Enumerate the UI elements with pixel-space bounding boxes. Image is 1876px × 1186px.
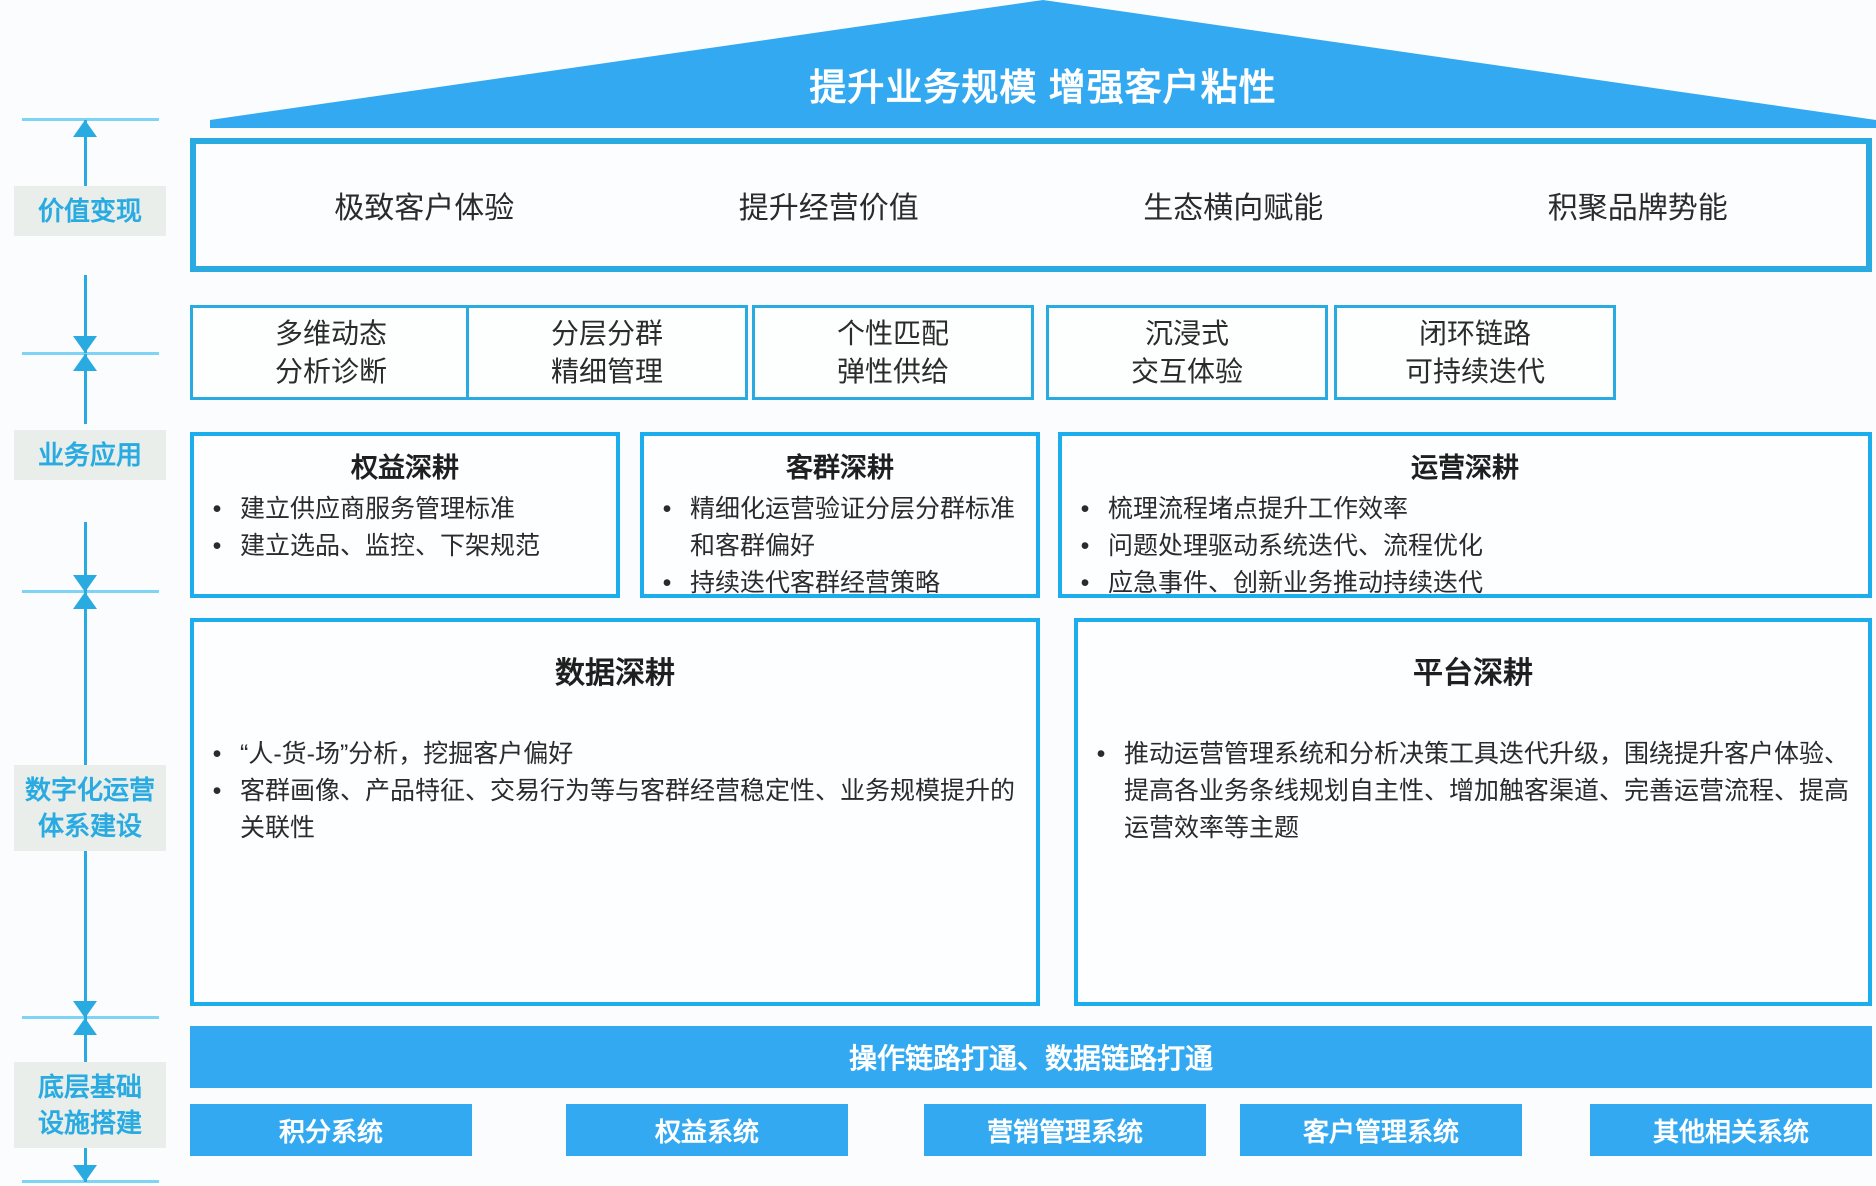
biz-box-line-2: 弹性供给 <box>837 353 949 391</box>
rail-label-infrastructure: 底层基础 设施搭建 <box>14 1062 166 1148</box>
bullet-icon: • <box>644 491 690 528</box>
system-box-label: 其他相关系统 <box>1653 1112 1809 1149</box>
biz-box-line-1: 闭环链路 <box>1419 315 1531 353</box>
left-rail: 价值变现 业务应用 数字化运营 体系建设 底层基础 设施搭建 <box>0 110 180 1186</box>
system-box-other[interactable]: 其他相关系统 <box>1590 1104 1872 1156</box>
deep-box-platform[interactable]: 平台深耕 • 推动运营管理系统和分析决策工具迭代升级，围绕提升客户体验、提高各业… <box>1074 618 1872 1006</box>
rail-label-line-1: 数字化运营 <box>14 772 166 808</box>
rail-label-line: 业务应用 <box>14 437 166 473</box>
biz-box-line-1: 分层分群 <box>551 315 663 353</box>
list-item: • 梳理流程堵点提升工作效率 <box>1062 491 1868 528</box>
list-item: • 客群画像、产品特征、交易行为等与客群经营稳定性、业务规模提升的关联性 <box>194 773 1036 847</box>
list-item-text: 推动运营管理系统和分析决策工具迭代升级，围绕提升客户体验、提高各业务条线规划自主… <box>1124 736 1868 847</box>
rail-arrow-down-0 <box>84 275 87 353</box>
list-item: • 推动运营管理系统和分析决策工具迭代升级，围绕提升客户体验、提高各业务条线规划… <box>1078 736 1868 847</box>
bullet-icon: • <box>1062 491 1108 528</box>
deep-box-title: 权益深耕 <box>194 446 616 485</box>
deep-box-rights[interactable]: 权益深耕 • 建立供应商服务管理标准 • 建立选品、监控、下架规范 <box>190 432 620 598</box>
list-item-text: 客群画像、产品特征、交易行为等与客群经营稳定性、业务规模提升的关联性 <box>240 773 1036 847</box>
deep-box-title: 客群深耕 <box>644 446 1036 485</box>
system-box-label: 营销管理系统 <box>987 1112 1143 1149</box>
deep-box-bullet-list: • 精细化运营验证分层分群标准和客群偏好 • 持续迭代客群经营策略 <box>644 491 1036 602</box>
system-box-label: 权益系统 <box>655 1112 759 1149</box>
deep-box-title: 数据深耕 <box>194 648 1036 692</box>
deep-box-title: 平台深耕 <box>1078 648 1868 692</box>
list-item-text: 问题处理驱动系统迭代、流程优化 <box>1108 528 1868 565</box>
list-item: • 建立供应商服务管理标准 <box>194 491 616 528</box>
rail-label-line-2: 设施搭建 <box>14 1105 166 1141</box>
list-item-text: 精细化运营验证分层分群标准和客群偏好 <box>690 491 1036 565</box>
deep-box-bullet-list: • 推动运营管理系统和分析决策工具迭代升级，围绕提升客户体验、提高各业务条线规划… <box>1078 736 1868 847</box>
link-through-label: 操作链路打通、数据链路打通 <box>849 1037 1213 1077</box>
rail-label-value-realization: 价值变现 <box>14 186 166 236</box>
value-item-business-value: 提升经营价值 <box>627 183 1032 227</box>
bullet-icon: • <box>1062 528 1108 565</box>
biz-box-multidimensional-analysis[interactable]: 多维动态 分析诊断 <box>190 305 472 400</box>
list-item: • 建立选品、监控、下架规范 <box>194 528 616 565</box>
diagram-canvas: 提升业务规模 增强客户粘性 价值变现 业务应用 数字化运营 体系建设 底层基础 <box>0 0 1876 1186</box>
rail-arrow-down-1 <box>84 522 87 592</box>
list-item-text: “人-货-场”分析，挖掘客户偏好 <box>240 736 1036 773</box>
rail-label-digital-operations: 数字化运营 体系建设 <box>14 765 166 851</box>
list-item-text: 建立选品、监控、下架规范 <box>240 528 616 565</box>
bullet-icon: • <box>644 565 690 602</box>
biz-box-line-1: 多维动态 <box>275 315 387 353</box>
bullet-icon: • <box>194 528 240 565</box>
deep-box-bullet-list: • “人-货-场”分析，挖掘客户偏好 • 客群画像、产品特征、交易行为等与客群经… <box>194 736 1036 847</box>
deep-box-bullet-list: • 梳理流程堵点提升工作效率 • 问题处理驱动系统迭代、流程优化 • 应急事件、… <box>1062 491 1868 602</box>
bullet-icon: • <box>194 491 240 528</box>
biz-box-immersive-interaction[interactable]: 沉浸式 交互体验 <box>1046 305 1328 400</box>
link-through-bar: 操作链路打通、数据链路打通 <box>190 1026 1872 1088</box>
value-item-customer-experience: 极致客户体验 <box>222 183 627 227</box>
bullet-icon: • <box>1078 736 1124 773</box>
bullet-icon: • <box>1062 565 1108 602</box>
biz-box-line-2: 分析诊断 <box>275 353 387 391</box>
list-item: • “人-货-场”分析，挖掘客户偏好 <box>194 736 1036 773</box>
biz-box-line-1: 个性匹配 <box>837 315 949 353</box>
system-box-label: 客户管理系统 <box>1303 1112 1459 1149</box>
rail-label-line-1: 底层基础 <box>14 1069 166 1105</box>
system-box-marketing[interactable]: 营销管理系统 <box>924 1104 1206 1156</box>
rail-label-line-2: 体系建设 <box>14 808 166 844</box>
system-box-customer[interactable]: 客户管理系统 <box>1240 1104 1522 1156</box>
bullet-icon: • <box>194 773 240 810</box>
biz-box-segmentation-management[interactable]: 分层分群 精细管理 <box>466 305 748 400</box>
deep-box-title: 运营深耕 <box>1062 446 1868 485</box>
roof-shape: 提升业务规模 增强客户粘性 <box>210 0 1876 128</box>
deep-box-customer-group[interactable]: 客群深耕 • 精细化运营验证分层分群标准和客群偏好 • 持续迭代客群经营策略 <box>640 432 1040 598</box>
biz-box-line-1: 沉浸式 <box>1145 315 1229 353</box>
list-item: • 精细化运营验证分层分群标准和客群偏好 <box>644 491 1036 565</box>
biz-box-personalized-matching[interactable]: 个性匹配 弹性供给 <box>752 305 1034 400</box>
list-item-text: 梳理流程堵点提升工作效率 <box>1108 491 1868 528</box>
deep-box-bullet-list: • 建立供应商服务管理标准 • 建立选品、监控、下架规范 <box>194 491 616 565</box>
list-item-text: 应急事件、创新业务推动持续迭代 <box>1108 565 1868 602</box>
list-item: • 持续迭代客群经营策略 <box>644 565 1036 602</box>
list-item-text: 持续迭代客群经营策略 <box>690 565 1036 602</box>
deep-box-operations[interactable]: 运营深耕 • 梳理流程堵点提升工作效率 • 问题处理驱动系统迭代、流程优化 • … <box>1058 432 1872 598</box>
list-item: • 问题处理驱动系统迭代、流程优化 <box>1062 528 1868 565</box>
list-item: • 应急事件、创新业务推动持续迭代 <box>1062 565 1868 602</box>
biz-box-closed-loop-iteration[interactable]: 闭环链路 可持续迭代 <box>1334 305 1616 400</box>
system-box-label: 积分系统 <box>279 1112 383 1149</box>
value-item-brand-momentum: 积聚品牌势能 <box>1436 183 1841 227</box>
biz-box-line-2: 交互体验 <box>1131 353 1243 391</box>
bullet-icon: • <box>194 736 240 773</box>
value-item-ecosystem-enablement: 生态横向赋能 <box>1031 183 1436 227</box>
biz-box-line-2: 精细管理 <box>551 353 663 391</box>
value-realization-panel: 极致客户体验 提升经营价值 生态横向赋能 积聚品牌势能 <box>190 138 1872 272</box>
roof-title: 提升业务规模 增强客户粘性 <box>210 0 1876 128</box>
rail-label-business-application: 业务应用 <box>14 430 166 480</box>
rail-arrow-up-1 <box>84 354 87 424</box>
deep-box-data[interactable]: 数据深耕 • “人-货-场”分析，挖掘客户偏好 • 客群画像、产品特征、交易行为… <box>190 618 1040 1006</box>
list-item-text: 建立供应商服务管理标准 <box>240 491 616 528</box>
rail-label-line: 价值变现 <box>14 193 166 229</box>
system-box-points[interactable]: 积分系统 <box>190 1104 472 1156</box>
system-box-rights[interactable]: 权益系统 <box>566 1104 848 1156</box>
biz-box-line-2: 可持续迭代 <box>1405 353 1545 391</box>
